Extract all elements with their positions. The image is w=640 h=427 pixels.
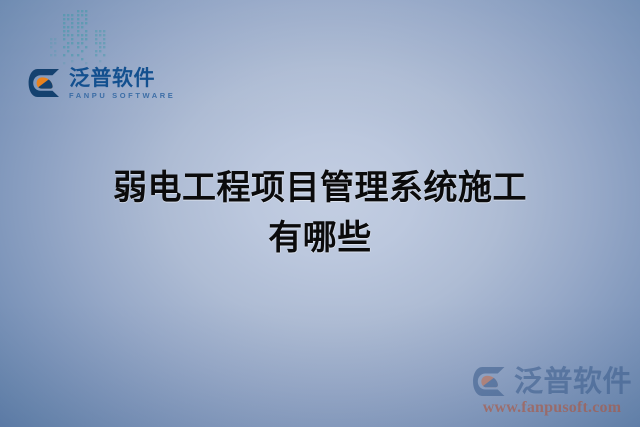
watermark-url: www.fanpusoft.com xyxy=(483,399,622,417)
brand-logo-lockup: 泛普软件 FANPU SOFTWARE xyxy=(28,68,175,100)
page-title-line-2: 有哪些 xyxy=(0,213,640,263)
watermark-fanpu-hexagon-logo-icon xyxy=(472,366,508,397)
page-title: 弱电工程项目管理系统施工 有哪些 xyxy=(0,163,640,263)
brand-name-cn: 泛普软件 xyxy=(69,68,175,89)
fanpu-hexagon-logo-icon xyxy=(28,68,62,98)
banner-canvas: 泛普软件 FANPU SOFTWARE 弱电工程项目管理系统施工 有哪些 泛普软… xyxy=(0,0,640,427)
brand-wordmark: 泛普软件 FANPU SOFTWARE xyxy=(69,68,175,100)
watermark-logo-row: 泛普软件 xyxy=(472,366,632,397)
digital-city-skyline-icon xyxy=(47,4,121,70)
watermark: 泛普软件 www.fanpusoft.com xyxy=(472,366,632,417)
watermark-name-cn: 泛普软件 xyxy=(514,367,632,396)
brand-name-en: FANPU SOFTWARE xyxy=(69,92,175,100)
page-title-line-1: 弱电工程项目管理系统施工 xyxy=(0,163,640,213)
